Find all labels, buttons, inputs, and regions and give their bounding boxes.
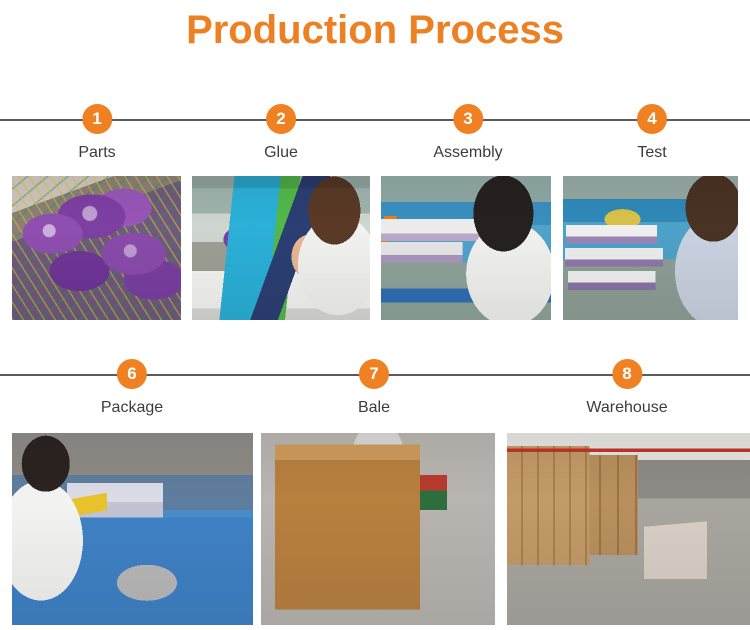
step-label-warehouse: Warehouse [586,398,667,418]
step-marker-parts[interactable]: 1 Parts [78,100,115,163]
step-label-glue: Glue [264,143,298,163]
step-number-badge-6: 6 [117,359,147,389]
photo-bale-image [261,433,495,625]
step-marker-assembly[interactable]: 3 Assembly [433,100,502,163]
photo-strip-row-2 [0,433,750,625]
photo-glue-image [192,176,370,320]
photo-warehouse-image [507,433,750,625]
step-marker-package[interactable]: 6 Package [101,355,163,418]
step-number-badge-8: 8 [612,359,642,389]
step-label-assembly: Assembly [433,143,502,163]
step-number-badge-4: 4 [637,104,667,134]
photo-warehouse [507,433,750,625]
step-number-badge-2: 2 [266,104,296,134]
step-marker-glue[interactable]: 2 Glue [264,100,298,163]
step-marker-test[interactable]: 4 Test [637,100,667,163]
step-markers-row-2: 6 Package 7 Bale 8 Warehouse [0,355,750,425]
step-label-bale: Bale [358,398,390,418]
step-label-parts: Parts [78,143,115,163]
photo-assembly [381,176,551,320]
step-marker-bale[interactable]: 7 Bale [358,355,390,418]
step-label-package: Package [101,398,163,418]
step-number-badge-3: 3 [453,104,483,134]
step-number-badge-1: 1 [82,104,112,134]
photo-package [12,433,253,625]
step-number-badge-7: 7 [359,359,389,389]
step-marker-warehouse[interactable]: 8 Warehouse [586,355,667,418]
page-title: Production Process [0,6,750,54]
photo-glue [192,176,370,320]
photo-parts-image [12,176,181,320]
photo-test [563,176,738,320]
photo-parts [12,176,181,320]
photo-assembly-image [381,176,551,320]
photo-package-image [12,433,253,625]
photo-test-image [563,176,738,320]
step-label-test: Test [637,143,667,163]
step-markers-row-1: 1 Parts 2 Glue 3 Assembly 4 Test [0,100,750,170]
photo-bale [261,433,495,625]
photo-strip-row-1 [0,176,750,320]
